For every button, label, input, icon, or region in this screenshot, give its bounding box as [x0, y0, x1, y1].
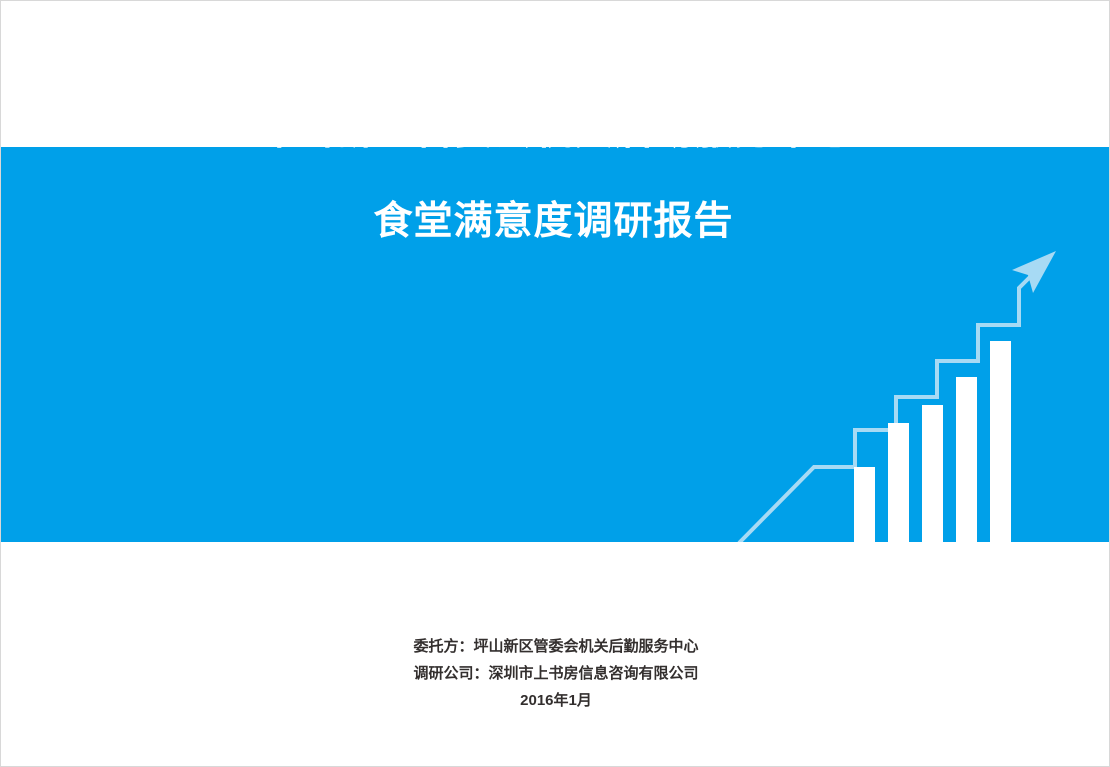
- bar-5: [990, 341, 1011, 542]
- bar-2: [888, 423, 909, 542]
- footer-client-line: 委托方：坪山新区管委会机关后勤服务中心: [1, 633, 1110, 660]
- growth-chart-graphic: [701, 147, 1110, 542]
- bar-3: [922, 405, 943, 542]
- bar-1: [854, 467, 875, 542]
- footer-credits: 委托方：坪山新区管委会机关后勤服务中心 调研公司：深圳市上书房信息咨询有限公司 …: [1, 633, 1110, 714]
- bar-group: [854, 341, 1011, 542]
- banner-band: [1, 147, 1110, 542]
- footer-agency-line: 调研公司：深圳市上书房信息咨询有限公司: [1, 660, 1110, 687]
- slide-canvas: 坪山新区管委会机关后勤服务中心 食堂满意度调研报告 委托方：坪山新区管委会机关后…: [0, 0, 1110, 767]
- footer-date-line: 2016年1月: [1, 687, 1110, 714]
- bar-4: [956, 377, 977, 542]
